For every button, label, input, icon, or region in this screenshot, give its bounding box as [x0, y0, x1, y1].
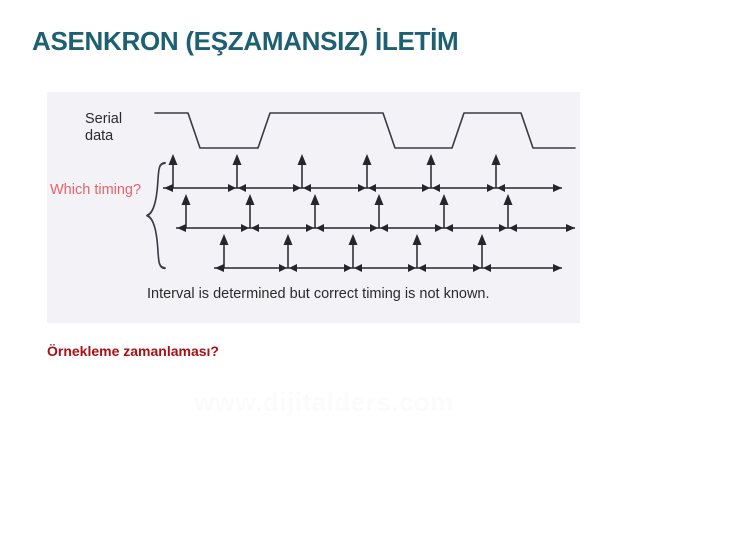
timing-row-3	[214, 234, 562, 272]
timing-brace	[147, 163, 165, 268]
timing-row-2	[176, 194, 575, 232]
serial-data-label: Serial data	[85, 111, 122, 145]
which-timing-label: Which timing?	[50, 182, 141, 198]
page-title: ASENKRON (EŞZAMANSIZ) İLETİM	[32, 26, 458, 57]
serial-data-waveform	[155, 113, 575, 148]
turkish-question-text: Örnekleme zamanlaması?	[47, 343, 219, 359]
figure-panel: Serial data Which timing? Interval is de…	[47, 92, 580, 323]
slide-canvas: ASENKRON (EŞZAMANSIZ) İLETİM	[0, 0, 730, 547]
figure-caption: Interval is determined but correct timin…	[147, 286, 490, 302]
timing-row-1	[163, 154, 562, 192]
watermark-text: www.dijitalders.com	[194, 387, 454, 418]
